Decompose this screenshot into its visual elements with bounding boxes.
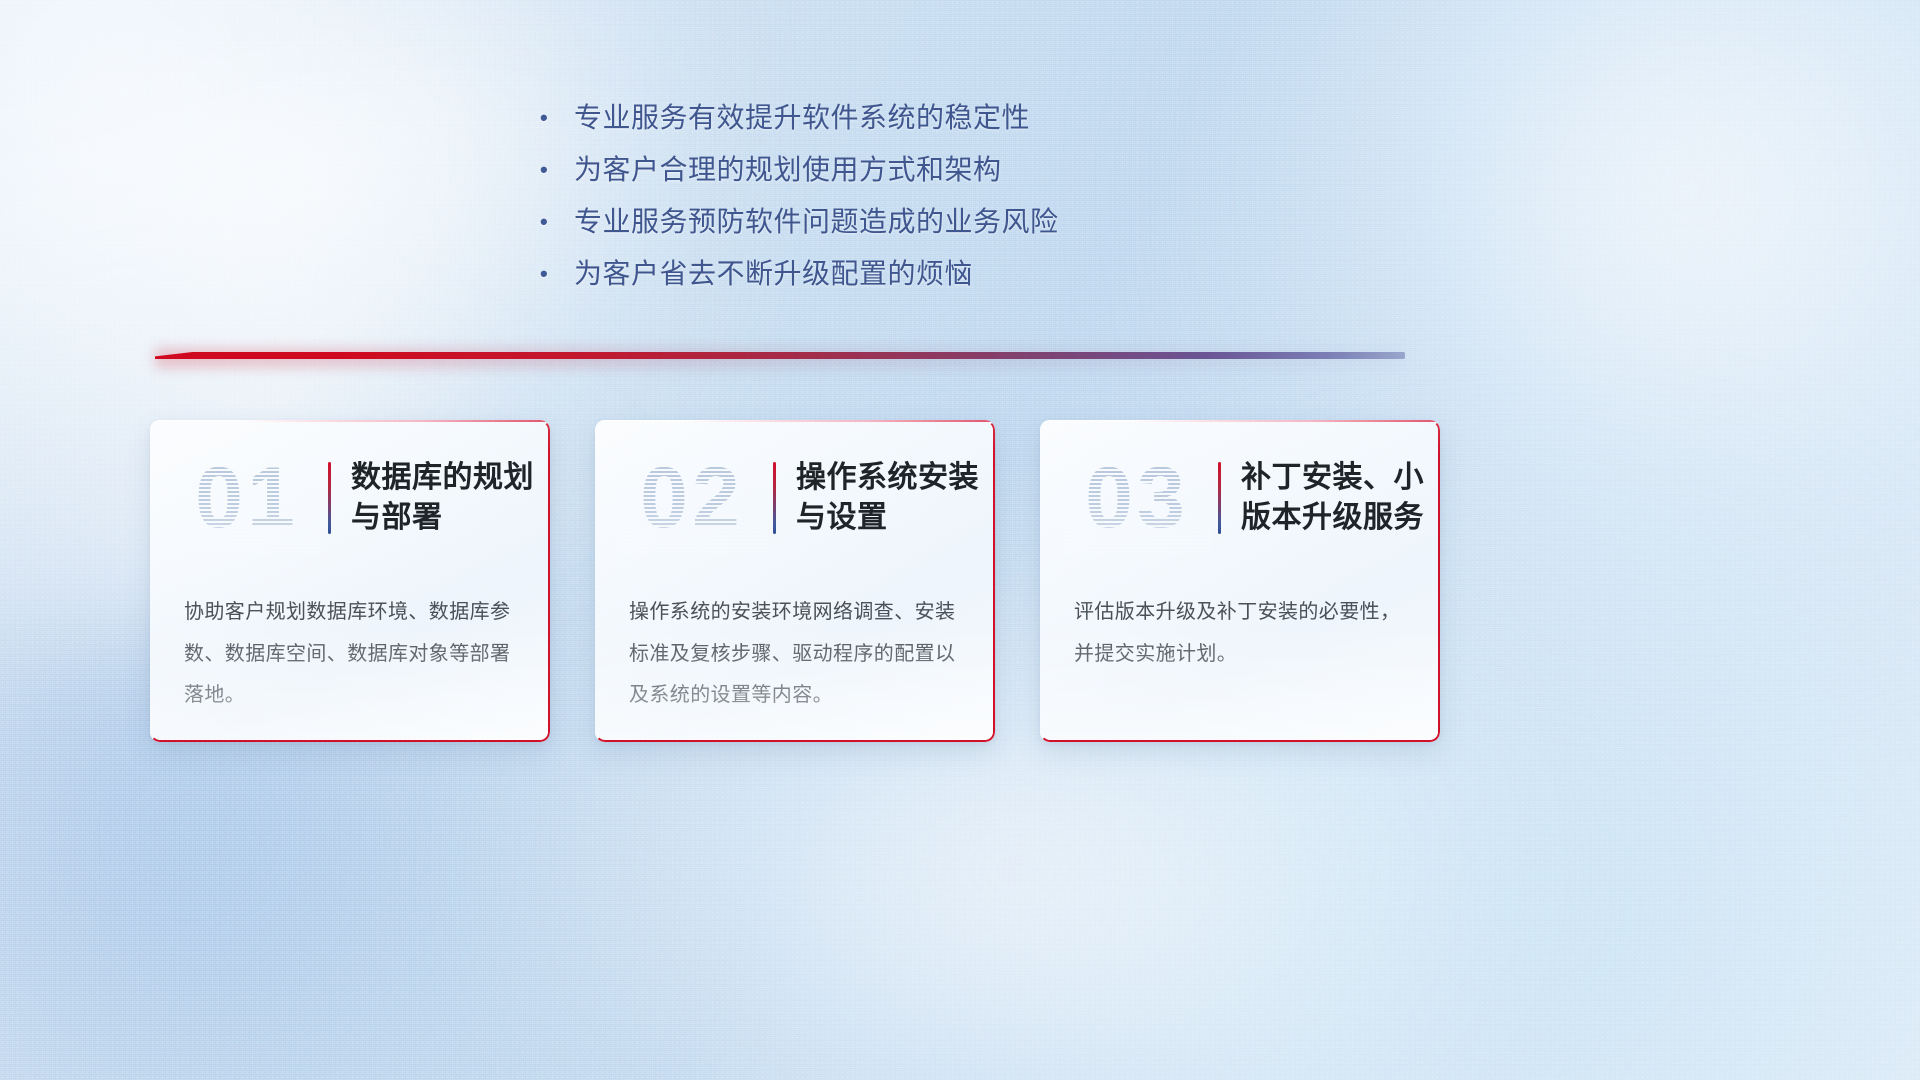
list-item: • 专业服务预防软件问题造成的业务风险 [540,196,1180,248]
card-title: 补丁安装、小版本升级服务 [1241,458,1440,537]
service-card-02[interactable]: 02 操作系统安装与设置 操作系统的安装环境网络调查、安装标准及复核步骤、驱动程… [595,420,995,742]
bullet-dot-icon: • [540,196,574,248]
service-card-03[interactable]: 03 补丁安装、小版本升级服务 评估版本升级及补丁安装的必要性，并提交实施计划。 [1040,420,1440,742]
bullet-dot-icon: • [540,92,574,144]
card-title: 数据库的规划与部署 [351,458,550,537]
section-divider [155,348,1405,370]
bullet-text: 为客户省去不断升级配置的烦恼 [574,248,973,300]
bullet-dot-icon: • [540,248,574,300]
card-header: 01 数据库的规划与部署 [150,420,550,575]
bullet-text: 专业服务预防软件问题造成的业务风险 [574,196,1059,248]
bullet-dot-icon: • [540,144,574,196]
list-item: • 为客户合理的规划使用方式和架构 [540,144,1180,196]
card-description: 操作系统的安装环境网络调查、安装标准及复核步骤、驱动程序的配置以及系统的设置等内… [629,592,965,717]
service-card-01[interactable]: 01 数据库的规划与部署 协助客户规划数据库环境、数据库参数、数据库空间、数据库… [150,420,550,742]
bullet-text: 为客户合理的规划使用方式和架构 [574,144,1002,196]
card-number-watermark: 02 [617,443,767,553]
bullet-text: 专业服务有效提升软件系统的稳定性 [574,92,1030,144]
card-description: 协助客户规划数据库环境、数据库参数、数据库空间、数据库对象等部署落地。 [184,592,520,717]
card-title: 操作系统安装与设置 [796,458,995,537]
card-description: 评估版本升级及补丁安装的必要性，并提交实施计划。 [1074,592,1410,675]
list-item: • 专业服务有效提升软件系统的稳定性 [540,92,1180,144]
card-header: 03 补丁安装、小版本升级服务 [1040,420,1440,575]
list-item: • 为客户省去不断升级配置的烦恼 [540,248,1180,300]
card-number-watermark: 03 [1062,443,1212,553]
card-number-watermark: 01 [172,443,322,553]
divider-line [155,352,1405,359]
service-card-row: 01 数据库的规划与部署 协助客户规划数据库环境、数据库参数、数据库空间、数据库… [150,420,1440,742]
benefits-bullet-list: • 专业服务有效提升软件系统的稳定性 • 为客户合理的规划使用方式和架构 • 专… [540,92,1180,300]
card-accent-bar [773,462,776,534]
card-accent-bar [328,462,331,534]
card-accent-bar [1218,462,1221,534]
card-header: 02 操作系统安装与设置 [595,420,995,575]
